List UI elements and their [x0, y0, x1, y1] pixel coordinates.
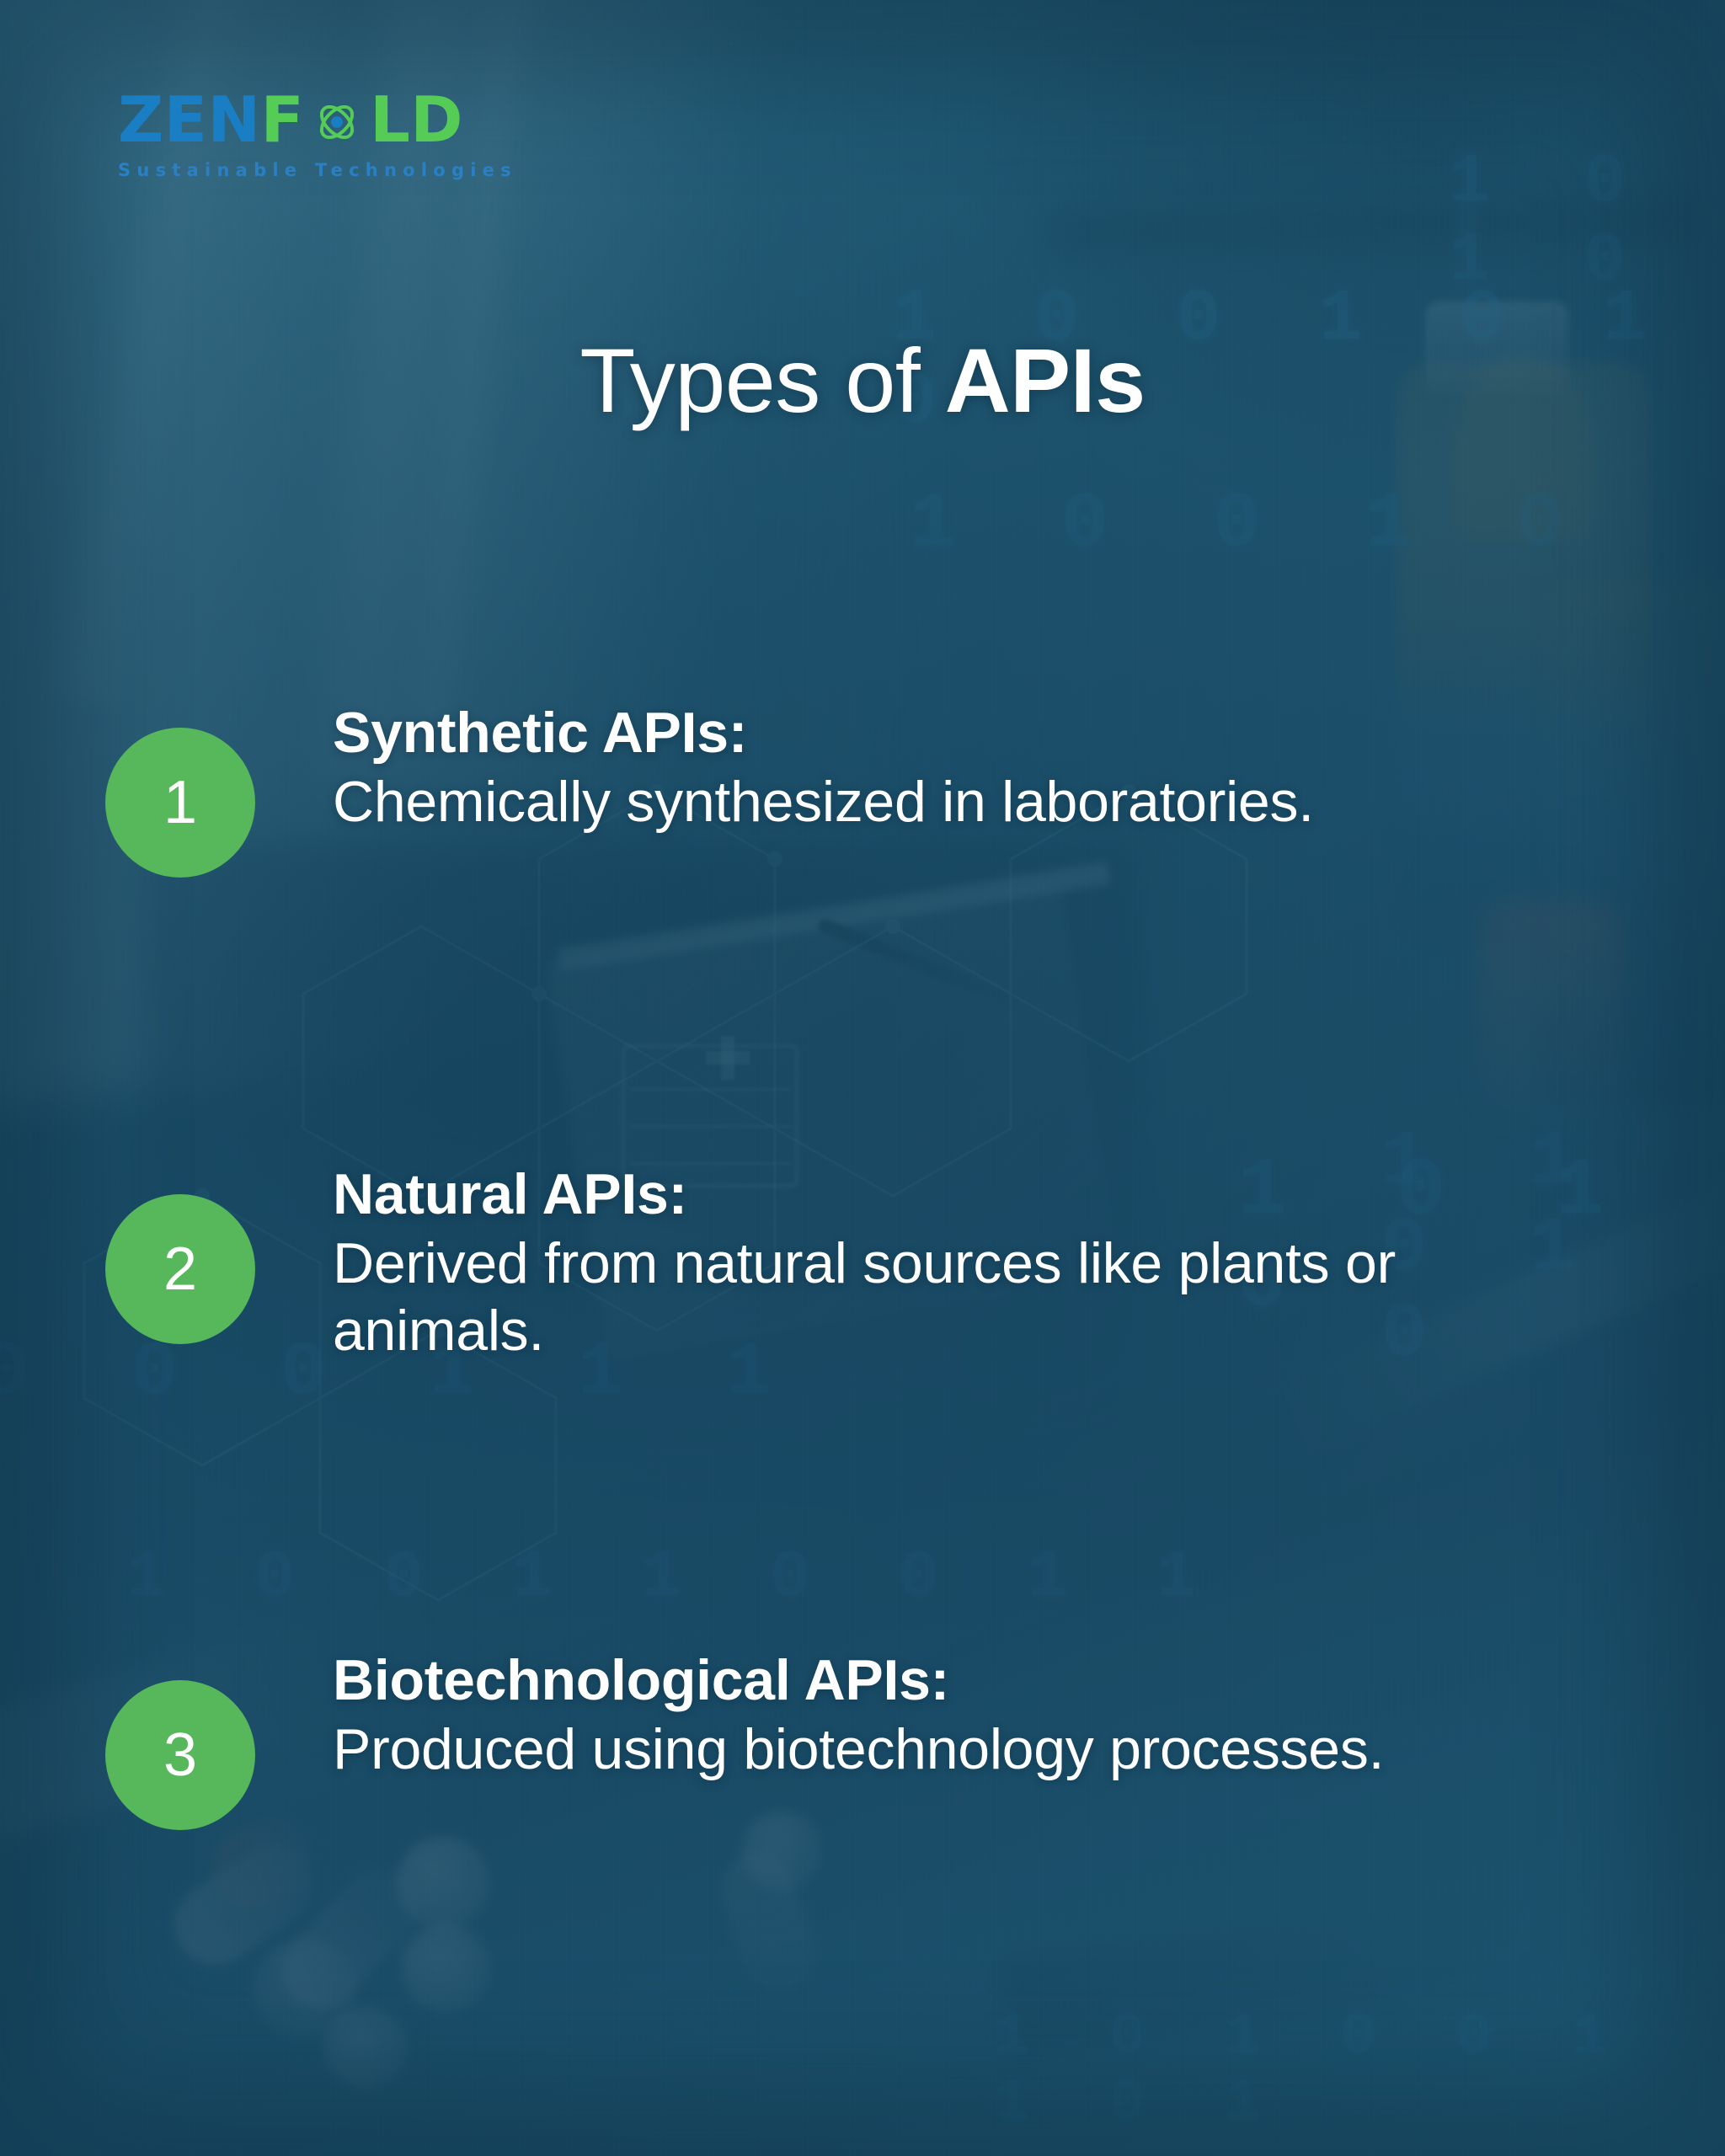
list-item-number-badge: 1 [105, 728, 255, 878]
brand-logo[interactable]: ZEN F LD Sustainable Technologie [118, 88, 517, 180]
list-item-body: Chemically synthesized in laboratories. [333, 768, 1314, 835]
list-item[interactable]: 1 Synthetic APIs: Chemically synthesized… [0, 699, 1314, 878]
list-item-text: Biotechnological APIs: Produced using bi… [333, 1646, 1384, 1783]
brand-logo-tagline: Sustainable Technologies [118, 160, 517, 180]
list-item-body: Produced using biotechnology processes. [333, 1716, 1384, 1783]
logo-text-ld: LD [370, 89, 463, 150]
list-item[interactable]: 3 Biotechnological APIs: Produced using … [0, 1646, 1384, 1830]
logo-text-f: F [261, 89, 305, 150]
brand-logo-wordmark: ZEN F LD [118, 88, 517, 152]
page-title: Types of APIs [0, 333, 1725, 428]
slide-content: ZEN F LD Sustainable Technologie [0, 0, 1725, 2156]
atom-icon [305, 90, 369, 154]
list-item-text: Synthetic APIs: Chemically synthesized i… [333, 699, 1314, 835]
list-item[interactable]: 2 Natural APIs: Derived from natural sou… [0, 1161, 1529, 1365]
list-item-number-badge: 2 [105, 1194, 255, 1344]
list-item-body: Derived from natural sources like plants… [333, 1230, 1529, 1364]
list-item-title: Synthetic APIs: [333, 699, 1314, 766]
list-item-title: Biotechnological APIs: [333, 1646, 1384, 1714]
page-title-bold: APIs [945, 329, 1146, 431]
logo-text-zen: ZEN [118, 89, 261, 150]
list-item-number-badge: 3 [105, 1680, 255, 1830]
list-item-title: Natural APIs: [333, 1161, 1529, 1228]
list-item-text: Natural APIs: Derived from natural sourc… [333, 1161, 1529, 1365]
slide-canvas: 1 0 0 1 0 1 0 1 0 0 1 0 1 0 1 0 1 1 0 1 … [0, 0, 1725, 2156]
page-title-light: Types of [579, 329, 944, 431]
